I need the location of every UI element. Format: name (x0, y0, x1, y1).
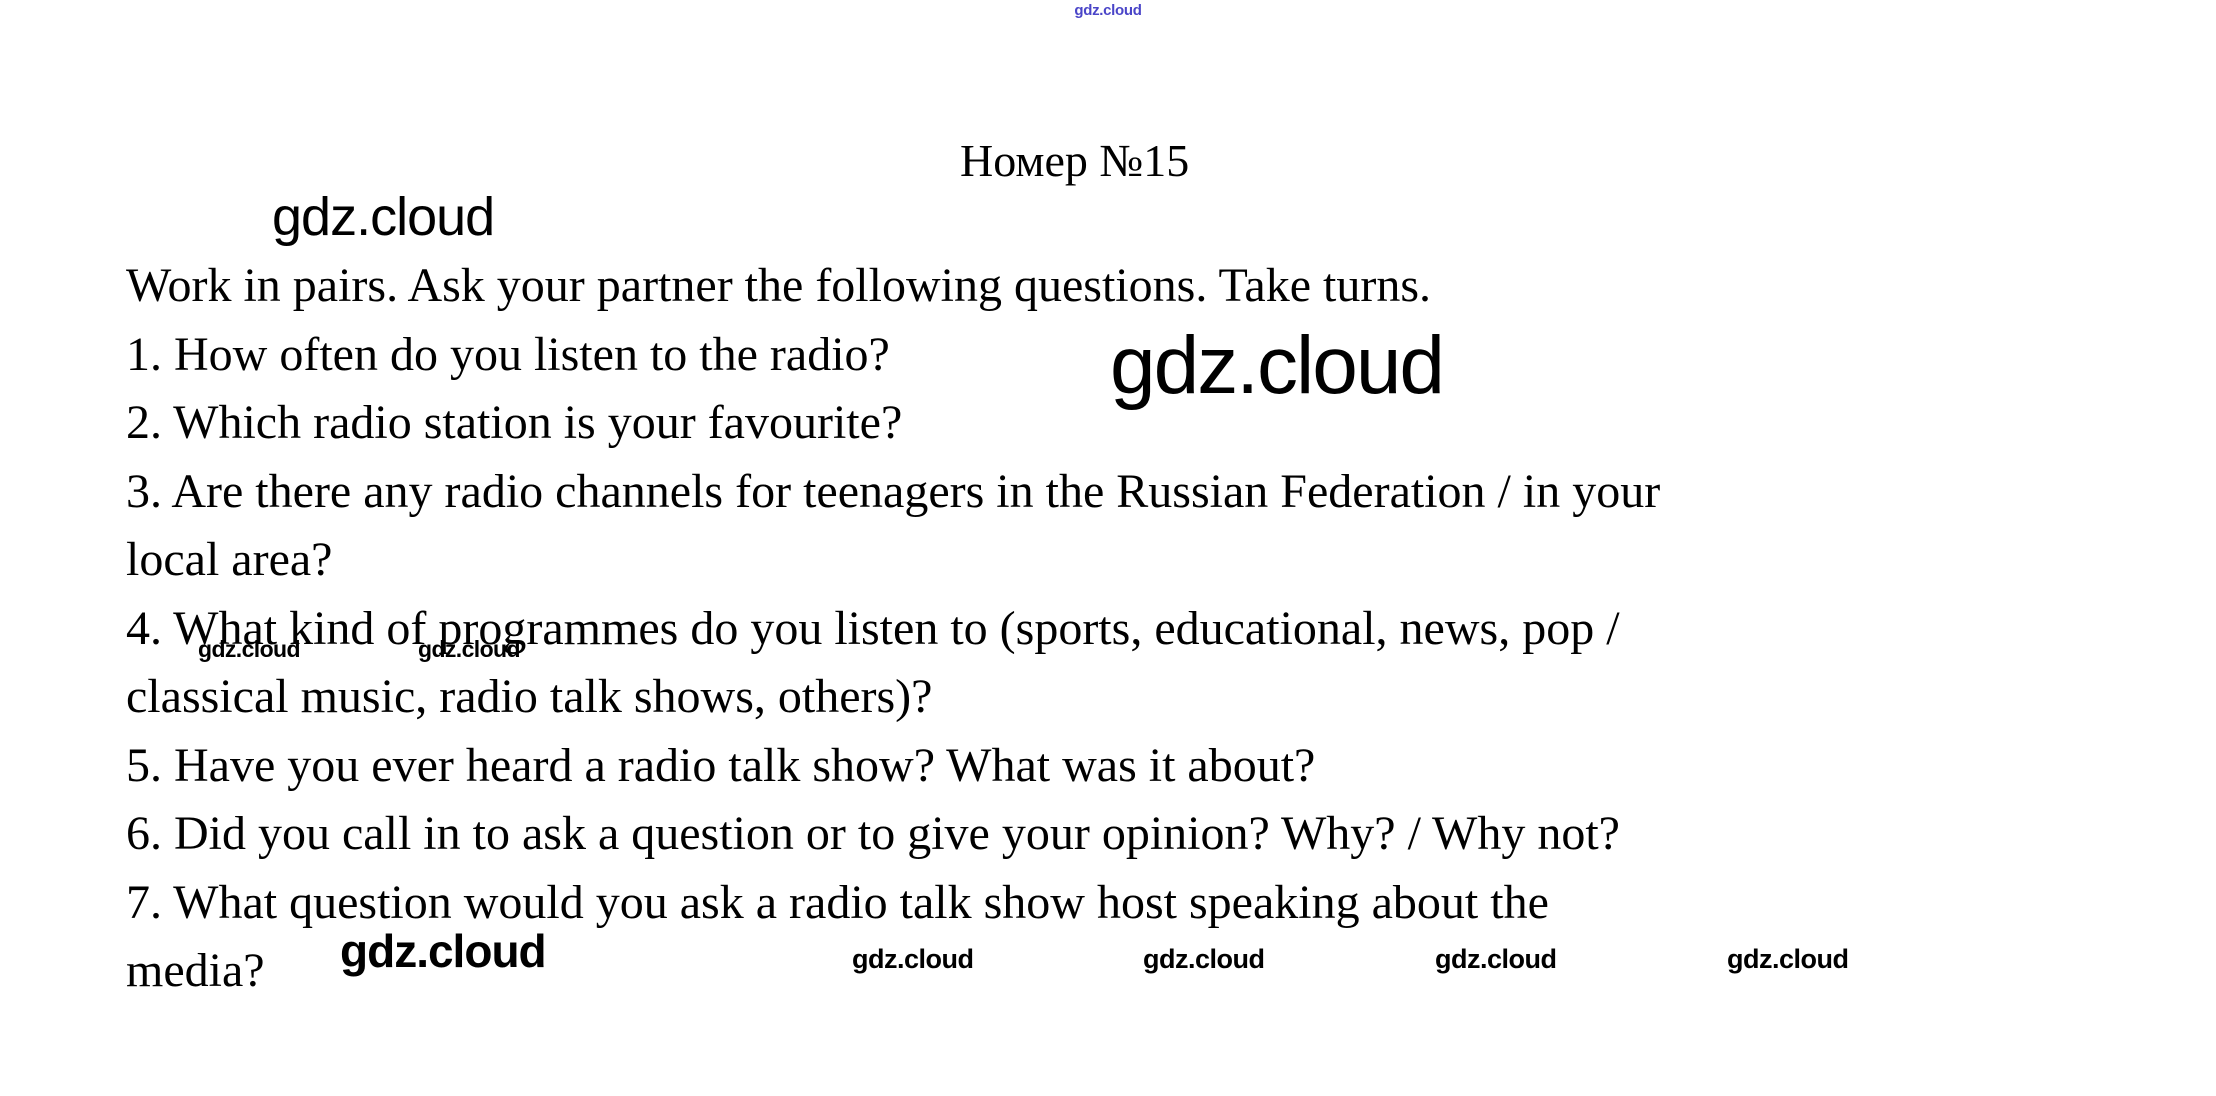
watermark-upper-left: gdz.cloud (272, 190, 494, 244)
watermark-inline-right: gdz.cloud (418, 638, 520, 661)
watermark-bottom-3: gdz.cloud (1435, 946, 1556, 973)
watermark-bottom-1: gdz.cloud (852, 946, 973, 973)
text-line-question-3: 3. Are there any radio channels for teen… (126, 458, 2136, 527)
text-line-question-6: 6. Did you call in to ask a question or … (126, 800, 2136, 869)
watermark-bottom-2: gdz.cloud (1143, 946, 1264, 973)
watermark-large-center: gdz.cloud (1110, 325, 1443, 407)
exercise-title: Номер №15 (960, 138, 1189, 184)
watermark-bottom-row: gdz.cloud gdz.cloud gdz.cloud gdz.cloud (0, 946, 2216, 986)
watermark-top: gdz.cloud (0, 2, 2216, 19)
watermark-bottom-4: gdz.cloud (1727, 946, 1848, 973)
watermark-inline-left: gdz.cloud (198, 638, 300, 661)
document-page: gdz.cloud Номер №15 Work in pairs. Ask y… (0, 0, 2216, 1096)
text-line-question-4-cont: classical music, radio talk shows, other… (126, 663, 2136, 732)
text-line-intro: Work in pairs. Ask your partner the foll… (126, 252, 2136, 321)
text-line-question-3-cont: local area? (126, 526, 2136, 595)
text-line-question-5: 5. Have you ever heard a radio talk show… (126, 732, 2136, 801)
